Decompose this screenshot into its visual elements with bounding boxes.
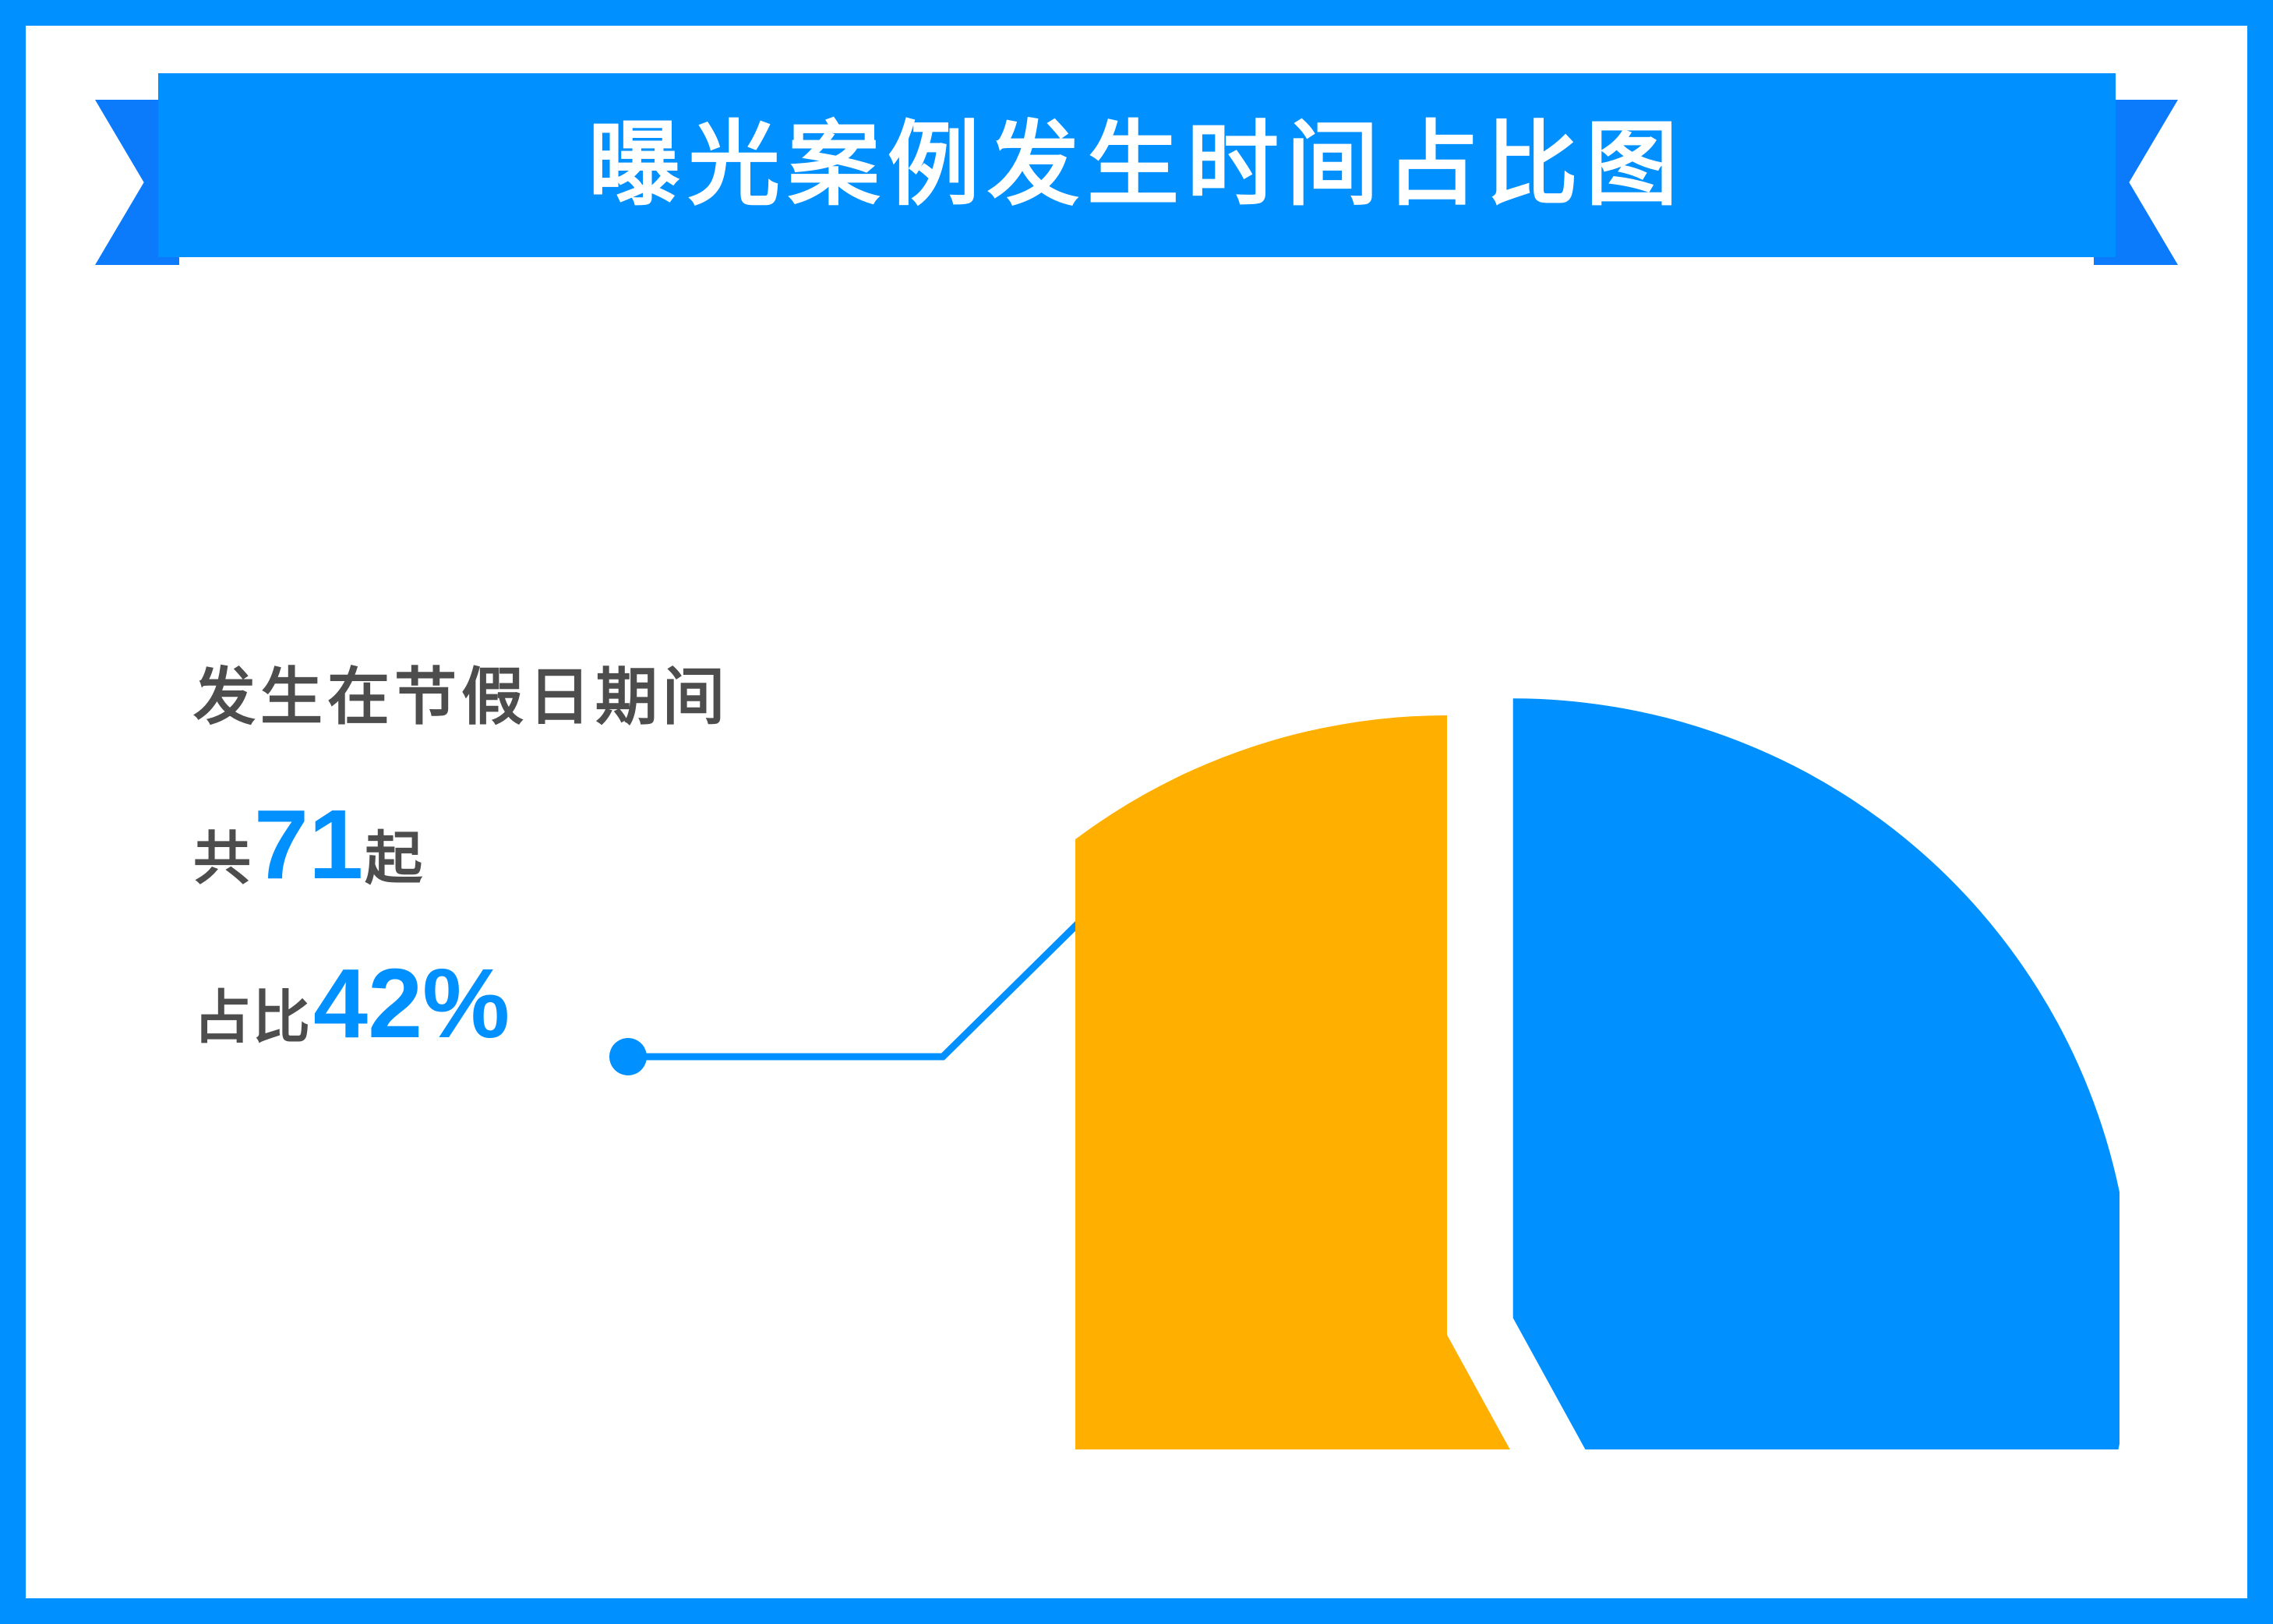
frame-border-bottom (0, 1598, 2273, 1624)
stat-count-row: 共 71 起 (193, 796, 972, 894)
stat-block: 发生在节假日期间 共 71 起 占比 42% (193, 666, 972, 1053)
page-title: 曝光案例发生时间占比图 (158, 73, 2116, 257)
title-ribbon: 曝光案例发生时间占比图 (0, 62, 2273, 265)
infographic-canvas: 曝光案例发生时间占比图 发生在节假日期间 共 71 起 占比 42% (0, 0, 2273, 1624)
stat-count-suffix: 起 (365, 830, 424, 888)
pie-chart (1075, 390, 2119, 1449)
pie-slice-holiday[interactable] (1513, 698, 2119, 1449)
stat-share-value: 42% (313, 955, 510, 1053)
frame-border-top (0, 0, 2273, 26)
stat-share-prefix: 占比 (193, 989, 312, 1047)
stat-share-row: 占比 42% (193, 955, 972, 1053)
stat-count-prefix: 共 (193, 830, 252, 888)
stat-count-value: 71 (254, 796, 363, 894)
stat-headline: 发生在节假日期间 (193, 666, 972, 729)
